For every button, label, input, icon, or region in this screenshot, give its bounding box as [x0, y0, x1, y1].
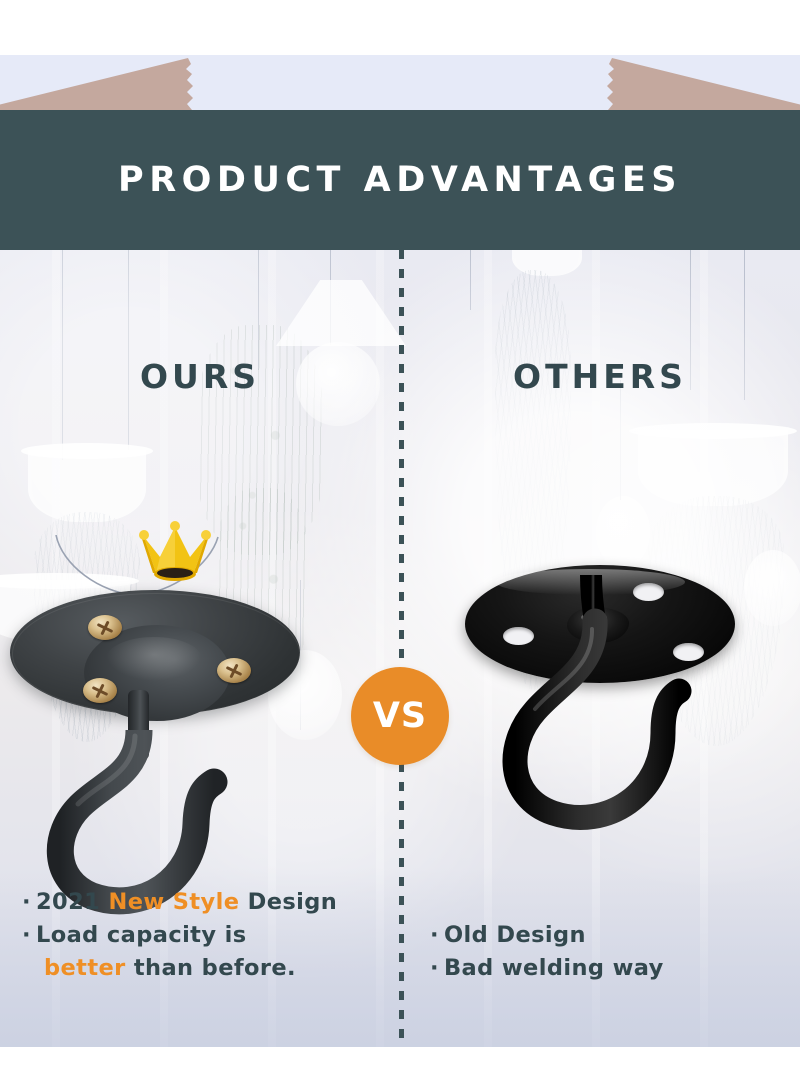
product-ours: [10, 515, 330, 915]
bullet-dot: ·: [430, 952, 444, 985]
bullet-text: Load capacity is: [36, 922, 247, 948]
infographic-root: PRODUCT ADVANTAGES: [0, 0, 800, 1091]
vs-badge: VS: [351, 667, 449, 765]
brass-screw: [217, 658, 251, 683]
vs-badge-label: VS: [373, 696, 427, 736]
bullet-text: Design: [239, 889, 337, 915]
brass-screw: [83, 678, 117, 703]
bullet-highlight: New Style: [108, 889, 239, 915]
column-heading-others: OTHERS: [400, 357, 800, 396]
bullet-dot: ·: [22, 886, 36, 919]
bullet-text: Old Design: [444, 922, 586, 948]
bullet-text: Bad welding way: [444, 955, 664, 981]
bullet-dot: ·: [430, 919, 444, 952]
dome-highlight: [106, 637, 202, 681]
bullet-text: 2021: [36, 889, 108, 915]
hook-curve: [473, 575, 773, 905]
column-heading-ours: OURS: [0, 357, 400, 396]
bullet-dot: ·: [22, 919, 36, 952]
bullet-list-ours: ·2021 New Style Design ·Load capacity is…: [22, 886, 392, 985]
column-divider: [399, 250, 404, 1047]
bullet-item: ·Old Design: [430, 919, 790, 952]
product-others: [455, 535, 775, 915]
bullet-highlight: better: [44, 955, 126, 981]
infographic-card: PRODUCT ADVANTAGES: [0, 55, 800, 1047]
bullet-item: ·Bad welding way: [430, 952, 790, 985]
crown-icon: [132, 515, 218, 601]
brass-screw: [88, 615, 122, 640]
page-title: PRODUCT ADVANTAGES: [0, 110, 800, 250]
comparison-area: OURS OTHERS: [0, 250, 800, 1047]
bullet-item-continuation: better than before.: [22, 952, 392, 985]
bullet-item: ·Load capacity is: [22, 919, 392, 952]
bullet-item: ·2021 New Style Design: [22, 886, 392, 919]
bullet-list-others: ·Old Design ·Bad welding way: [430, 919, 790, 985]
bullet-text: than before.: [126, 955, 296, 981]
